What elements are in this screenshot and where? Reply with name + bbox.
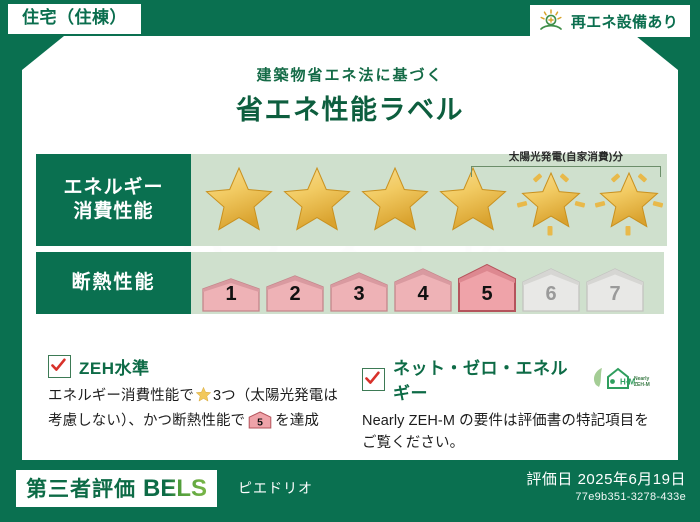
zeh-standard-header: ZEH水準 [48,354,340,379]
net-zero-body: Nearly ZEH-M の要件は評価書の特記項目をご覧ください。 [362,410,654,455]
star-icon [201,162,277,238]
heading-subtitle: 建築物省エネ法に基づく [22,64,678,85]
insulation-level-2: 2 [265,275,325,312]
card-heading: 建築物省エネ法に基づく 省エネ性能ラベル [22,64,678,127]
svg-text:5: 5 [257,418,263,429]
energy-row-label-line1: エネルギー [63,176,163,200]
footer-bar: 第三者評価 BELS ピエドリオ 評価日 2025年6月19日 77e9b351… [0,460,700,522]
inline-insulation-badge: 5 [248,411,272,436]
star-icon-solar [591,162,667,238]
zeh-standard-title: ZEH水準 [79,354,150,379]
solar-sun-icon [538,9,564,33]
third-party-label: 第三者評価 [26,473,136,503]
energy-performance-row: エネルギー 消費性能 太陽光発電(自家消費)分 [36,154,664,246]
zeh-m-logo-icon: H·M Nearly ZEH-M [592,366,654,392]
insulation-row-label-text: 断熱性能 [71,271,155,295]
zeh-body-pre: エネルギー消費性能で [48,388,194,404]
heading-title: 省エネ性能ラベル [22,88,678,127]
energy-row-label-line2: 消費性能 [73,200,153,224]
bels-logo-text: BELS [143,475,207,503]
label-card: パナステ広 建築物省エネ法に基づく 省エネ性能ラベル エネルギー 消費性能 太陽… [22,36,678,460]
performance-rows: エネルギー 消費性能 太陽光発電(自家消費)分 [36,154,664,314]
star-rating [191,162,667,238]
insulation-level-3: 3 [329,272,389,312]
net-zero-energy-block: ネット・ゼロ・エネルギー H·M Nearly ZEH-M Nearly ZEH… [362,354,654,455]
evaluation-id: 77e9b351-3278-433e [526,491,686,503]
category-chip: 住宅（住棟） [8,4,141,34]
vendor-name: ピエドリオ [238,478,313,498]
zeh-body-post: を達成 [275,413,319,429]
star-icon [279,162,355,238]
star-icon [357,162,433,238]
zeh-standard-body: エネルギー消費性能で3つ（太陽光発電は考慮しない）、かつ断熱性能で5を達成 [48,385,340,437]
insulation-scale: 1 2 [191,250,645,316]
net-zero-title: ネット・ゼロ・エネルギー [393,354,580,404]
net-zero-header: ネット・ゼロ・エネルギー H·M Nearly ZEH-M [362,354,654,404]
insulation-level-6: 6 [521,268,581,312]
check-icon [362,368,385,391]
insulation-level-1: 1 [201,278,261,312]
insulation-row-body: 1 2 [191,252,664,314]
insulation-row-label: 断熱性能 [36,252,191,314]
category-chip-label: 住宅（住棟） [22,8,127,27]
evaluation-date: 評価日 2025年6月19日 [526,468,686,489]
renewable-energy-badge: 再エネ設備あり [530,5,690,37]
star-icon-solar [513,162,589,238]
svg-text:ZEH-M: ZEH-M [634,382,650,388]
energy-row-label: エネルギー 消費性能 [36,154,191,246]
energy-performance-label: 住宅（住棟） 再エネ設備あり パナステ広 建築 [0,0,700,522]
inline-star-icon [195,386,212,410]
check-icon [48,355,71,378]
renewable-badge-label: 再エネ設備あり [571,11,678,32]
star-icon [435,162,511,238]
energy-row-body: 太陽光発電(自家消費)分 [191,154,667,246]
insulation-level-5-current: 5 [457,264,517,312]
bels-chip: 第三者評価 BELS [16,470,217,507]
insulation-level-4: 4 [393,268,453,312]
insulation-level-7: 7 [585,268,645,312]
info-section: ZEH水準 エネルギー消費性能で3つ（太陽光発電は考慮しない）、かつ断熱性能で5… [48,354,654,455]
zeh-standard-block: ZEH水準 エネルギー消費性能で3つ（太陽光発電は考慮しない）、かつ断熱性能で5… [48,354,340,455]
insulation-performance-row: 断熱性能 1 [36,252,664,314]
evaluation-info: 評価日 2025年6月19日 77e9b351-3278-433e [526,468,686,503]
